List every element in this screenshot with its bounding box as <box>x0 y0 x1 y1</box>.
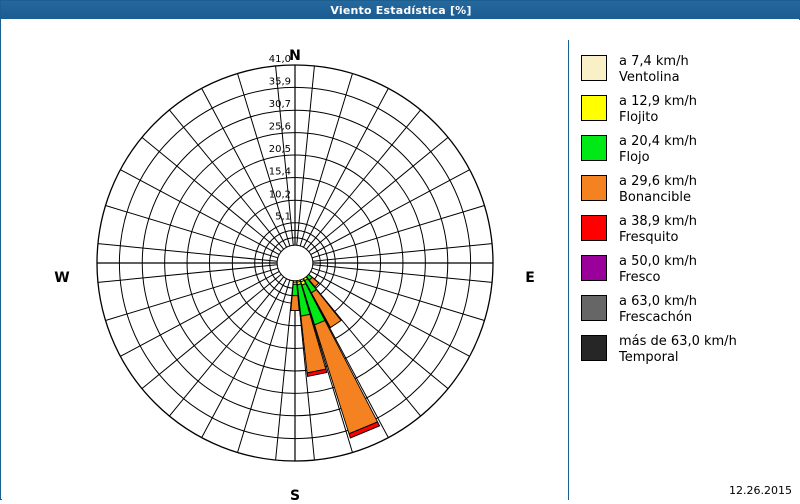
legend-swatch-flojito <box>581 95 607 121</box>
legend-label-speed: a 12,9 km/h <box>619 94 697 110</box>
radial-tick-label: 10,2 <box>269 189 291 200</box>
legend-swatch-flojo <box>581 135 607 161</box>
wind-rose-segment <box>292 284 298 295</box>
wind-rose-segment-inner <box>293 281 296 282</box>
legend-swatch-frescachon <box>581 295 607 321</box>
legend-label-speed: a 38,9 km/h <box>619 214 697 230</box>
legend-panel: a 7,4 km/hVentolinaa 12,9 km/hFlojitoa 2… <box>568 40 800 500</box>
legend-label: a 38,9 km/hFresquito <box>619 214 697 246</box>
legend-label-speed: a 63,0 km/h <box>619 294 697 310</box>
legend-label-speed: a 50,0 km/h <box>619 254 697 270</box>
legend-row[interactable]: a 20,4 km/hFlojo <box>581 134 800 166</box>
legend-label: más de 63,0 km/hTemporal <box>619 334 737 366</box>
legend-label: a 50,0 km/hFresco <box>619 254 697 286</box>
grid-spoke <box>300 74 352 246</box>
radial-tick-label: 25,6 <box>269 122 291 133</box>
legend-label: a 20,4 km/hFlojo <box>619 134 697 166</box>
compass-label-south: S <box>265 488 325 504</box>
grid-spoke <box>142 137 281 251</box>
chart-plot-area: 5,110,215,420,525,630,735,941,0 N S W E … <box>2 20 800 500</box>
legend-label-name: Fresquito <box>619 230 697 246</box>
legend-swatch-ventolina <box>581 55 607 81</box>
date-stamp: 12.26.2015 <box>729 484 792 497</box>
wind-rose-svg: 5,110,215,420,525,630,735,941,0 <box>2 20 562 490</box>
grid-spoke <box>306 110 420 249</box>
grid-spoke <box>142 274 281 388</box>
wind-rose-segment <box>291 296 299 311</box>
grid-spoke <box>106 268 278 320</box>
calm-center-circle <box>277 245 313 282</box>
legend-label: a 12,9 km/hFlojito <box>619 94 697 126</box>
compass-label-east: E <box>500 270 560 286</box>
grid-spoke <box>312 206 484 258</box>
legend-row[interactable]: a 7,4 km/hVentolina <box>581 54 800 86</box>
compass-label-north: N <box>265 48 325 64</box>
legend-label-speed: a 20,4 km/h <box>619 134 697 150</box>
legend-label-name: Flojito <box>619 110 697 126</box>
grid-spoke <box>106 206 278 258</box>
legend-label-name: Flojo <box>619 150 697 166</box>
compass-label-west: W <box>32 270 92 286</box>
radial-tick-label: 20,5 <box>269 144 291 155</box>
legend-label-name: Temporal <box>619 350 737 366</box>
legend-label-speed: a 7,4 km/h <box>619 54 689 70</box>
legend-label-name: Frescachón <box>619 310 697 326</box>
legend-swatch-fresquito <box>581 215 607 241</box>
wind-rose-diagram: 5,110,215,420,525,630,735,941,0 N S W E <box>2 20 562 490</box>
radial-axis-labels: 5,110,215,420,525,630,735,941,0 <box>269 54 291 223</box>
legend-row[interactable]: más de 63,0 km/hTemporal <box>581 334 800 366</box>
wind-rose-window: Viento Estadística [%] 5,110,215,420,525… <box>0 0 800 500</box>
legend-label: a 63,0 km/hFrescachón <box>619 294 697 326</box>
legend-row[interactable]: a 50,0 km/hFresco <box>581 254 800 286</box>
legend-swatch-temporal <box>581 335 607 361</box>
legend-label-speed: más de 63,0 km/h <box>619 334 737 350</box>
legend-label-name: Fresco <box>619 270 697 286</box>
legend-label-name: Ventolina <box>619 70 689 86</box>
legend-label: a 7,4 km/hVentolina <box>619 54 689 86</box>
legend-label: a 29,6 km/hBonancible <box>619 174 697 206</box>
radial-tick-label: 30,7 <box>269 99 291 110</box>
radial-tick-label: 15,4 <box>269 166 291 177</box>
grid-spoke <box>238 280 290 452</box>
grid-spoke <box>312 268 484 320</box>
grid-spoke <box>169 277 283 416</box>
window-title-bar: Viento Estadística [%] <box>1 1 800 19</box>
legend-label-speed: a 29,6 km/h <box>619 174 697 190</box>
legend-row[interactable]: a 63,0 km/hFrescachón <box>581 294 800 326</box>
wind-rose-segment-inner <box>297 280 300 282</box>
legend-swatch-fresco <box>581 255 607 281</box>
legend-row[interactable]: a 38,9 km/hFresquito <box>581 214 800 246</box>
legend-label-name: Bonancible <box>619 190 697 206</box>
grid-spoke <box>309 137 448 251</box>
legend-swatch-bonancible <box>581 175 607 201</box>
legend-row[interactable]: a 29,6 km/hBonancible <box>581 174 800 206</box>
grid-spoke <box>169 110 283 249</box>
wind-rose-segment <box>315 321 378 434</box>
radial-tick-label: 5,1 <box>275 212 291 223</box>
window-title: Viento Estadística [%] <box>330 4 471 17</box>
legend-row[interactable]: a 12,9 km/hFlojito <box>581 94 800 126</box>
radial-tick-label: 35,9 <box>269 76 291 87</box>
